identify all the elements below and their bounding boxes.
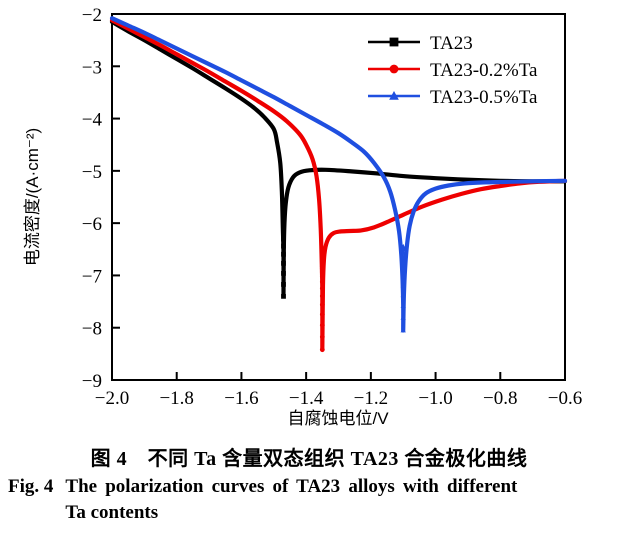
curve-marker-square <box>281 244 286 249</box>
x-tick-label: −1.8 <box>159 388 193 409</box>
y-tick-label: −9 <box>82 371 102 392</box>
curve-markers-group <box>281 216 406 353</box>
chart-legend: TA23TA23-0.2%TaTA23-0.5%Ta <box>368 33 538 108</box>
legend-label-2: TA23-0.5%Ta <box>430 87 538 108</box>
curve-marker-circle <box>320 270 325 275</box>
y-tick-label: −3 <box>82 57 102 78</box>
curve-marker-circle <box>320 274 325 279</box>
caption-chinese: 图 4 不同 Ta 含量双态组织 TA23 合金极化曲线 <box>0 440 618 474</box>
curve-marker-square <box>390 38 399 47</box>
curve-marker-square <box>281 225 286 230</box>
figure-container: −2.0−1.8−1.6−1.4−1.2−1.0−0.8−0.6 −2−3−4−… <box>0 0 618 545</box>
y-axis-title: 电流密度/(A·cm⁻²) <box>23 128 42 266</box>
x-tick-label: −1.2 <box>354 388 388 409</box>
curve-marker-circle <box>320 323 325 328</box>
y-tick-label: −4 <box>82 110 103 131</box>
figure-caption: 图 4 不同 Ta 含量双态组织 TA23 合金极化曲线 Fig. 4 The … <box>0 440 618 545</box>
curve-marker-circle <box>320 286 325 291</box>
y-tick-label: −7 <box>82 266 102 287</box>
curve-marker-square <box>281 230 286 235</box>
curve-marker-square <box>281 271 286 276</box>
x-tick-label: −1.4 <box>289 388 324 409</box>
caption-english-label: Fig. 4 <box>8 474 65 526</box>
curve-marker-circle <box>320 294 325 299</box>
x-tick-label: −1.6 <box>224 388 258 409</box>
curve-marker-circle <box>320 335 325 340</box>
y-tick-label: −2 <box>82 5 102 26</box>
curve-marker-square <box>281 261 286 266</box>
legend-label-0: TA23 <box>430 33 473 54</box>
curve-marker-circle <box>320 279 325 284</box>
x-axis-title: 自腐蚀电位/V <box>287 409 389 428</box>
y-tick-label: −8 <box>82 319 102 340</box>
curve-marker-circle <box>320 302 325 307</box>
polarization-chart: −2.0−1.8−1.6−1.4−1.2−1.0−0.8−0.6 −2−3−4−… <box>0 0 618 440</box>
curve-marker-circle <box>320 312 325 317</box>
chart-panel: −2.0−1.8−1.6−1.4−1.2−1.0−0.8−0.6 −2−3−4−… <box>0 0 618 440</box>
y-axis-ticks: −2−3−4−5−6−7−8−9 <box>82 5 120 392</box>
curve-marker-square <box>281 282 286 287</box>
x-tick-label: −0.6 <box>548 388 582 409</box>
curve-marker-square <box>281 237 286 242</box>
legend-label-1: TA23-0.2%Ta <box>430 60 538 81</box>
y-tick-label: −5 <box>82 162 102 183</box>
curve-marker-square <box>281 294 286 299</box>
curve-marker-square <box>281 252 286 257</box>
x-tick-label: −0.8 <box>483 388 517 409</box>
x-axis-ticks: −2.0−1.8−1.6−1.4−1.2−1.0−0.8−0.6 <box>95 372 582 409</box>
caption-english-text: The polarization curves of TA23 alloys w… <box>65 474 517 526</box>
curve-marker-circle <box>390 65 399 74</box>
curve-marker-square <box>281 221 286 226</box>
x-tick-label: −1.0 <box>418 388 452 409</box>
caption-english: Fig. 4 The polarization curves of TA23 a… <box>0 474 618 526</box>
curve-marker-circle <box>320 347 325 352</box>
y-tick-label: −6 <box>82 214 102 235</box>
